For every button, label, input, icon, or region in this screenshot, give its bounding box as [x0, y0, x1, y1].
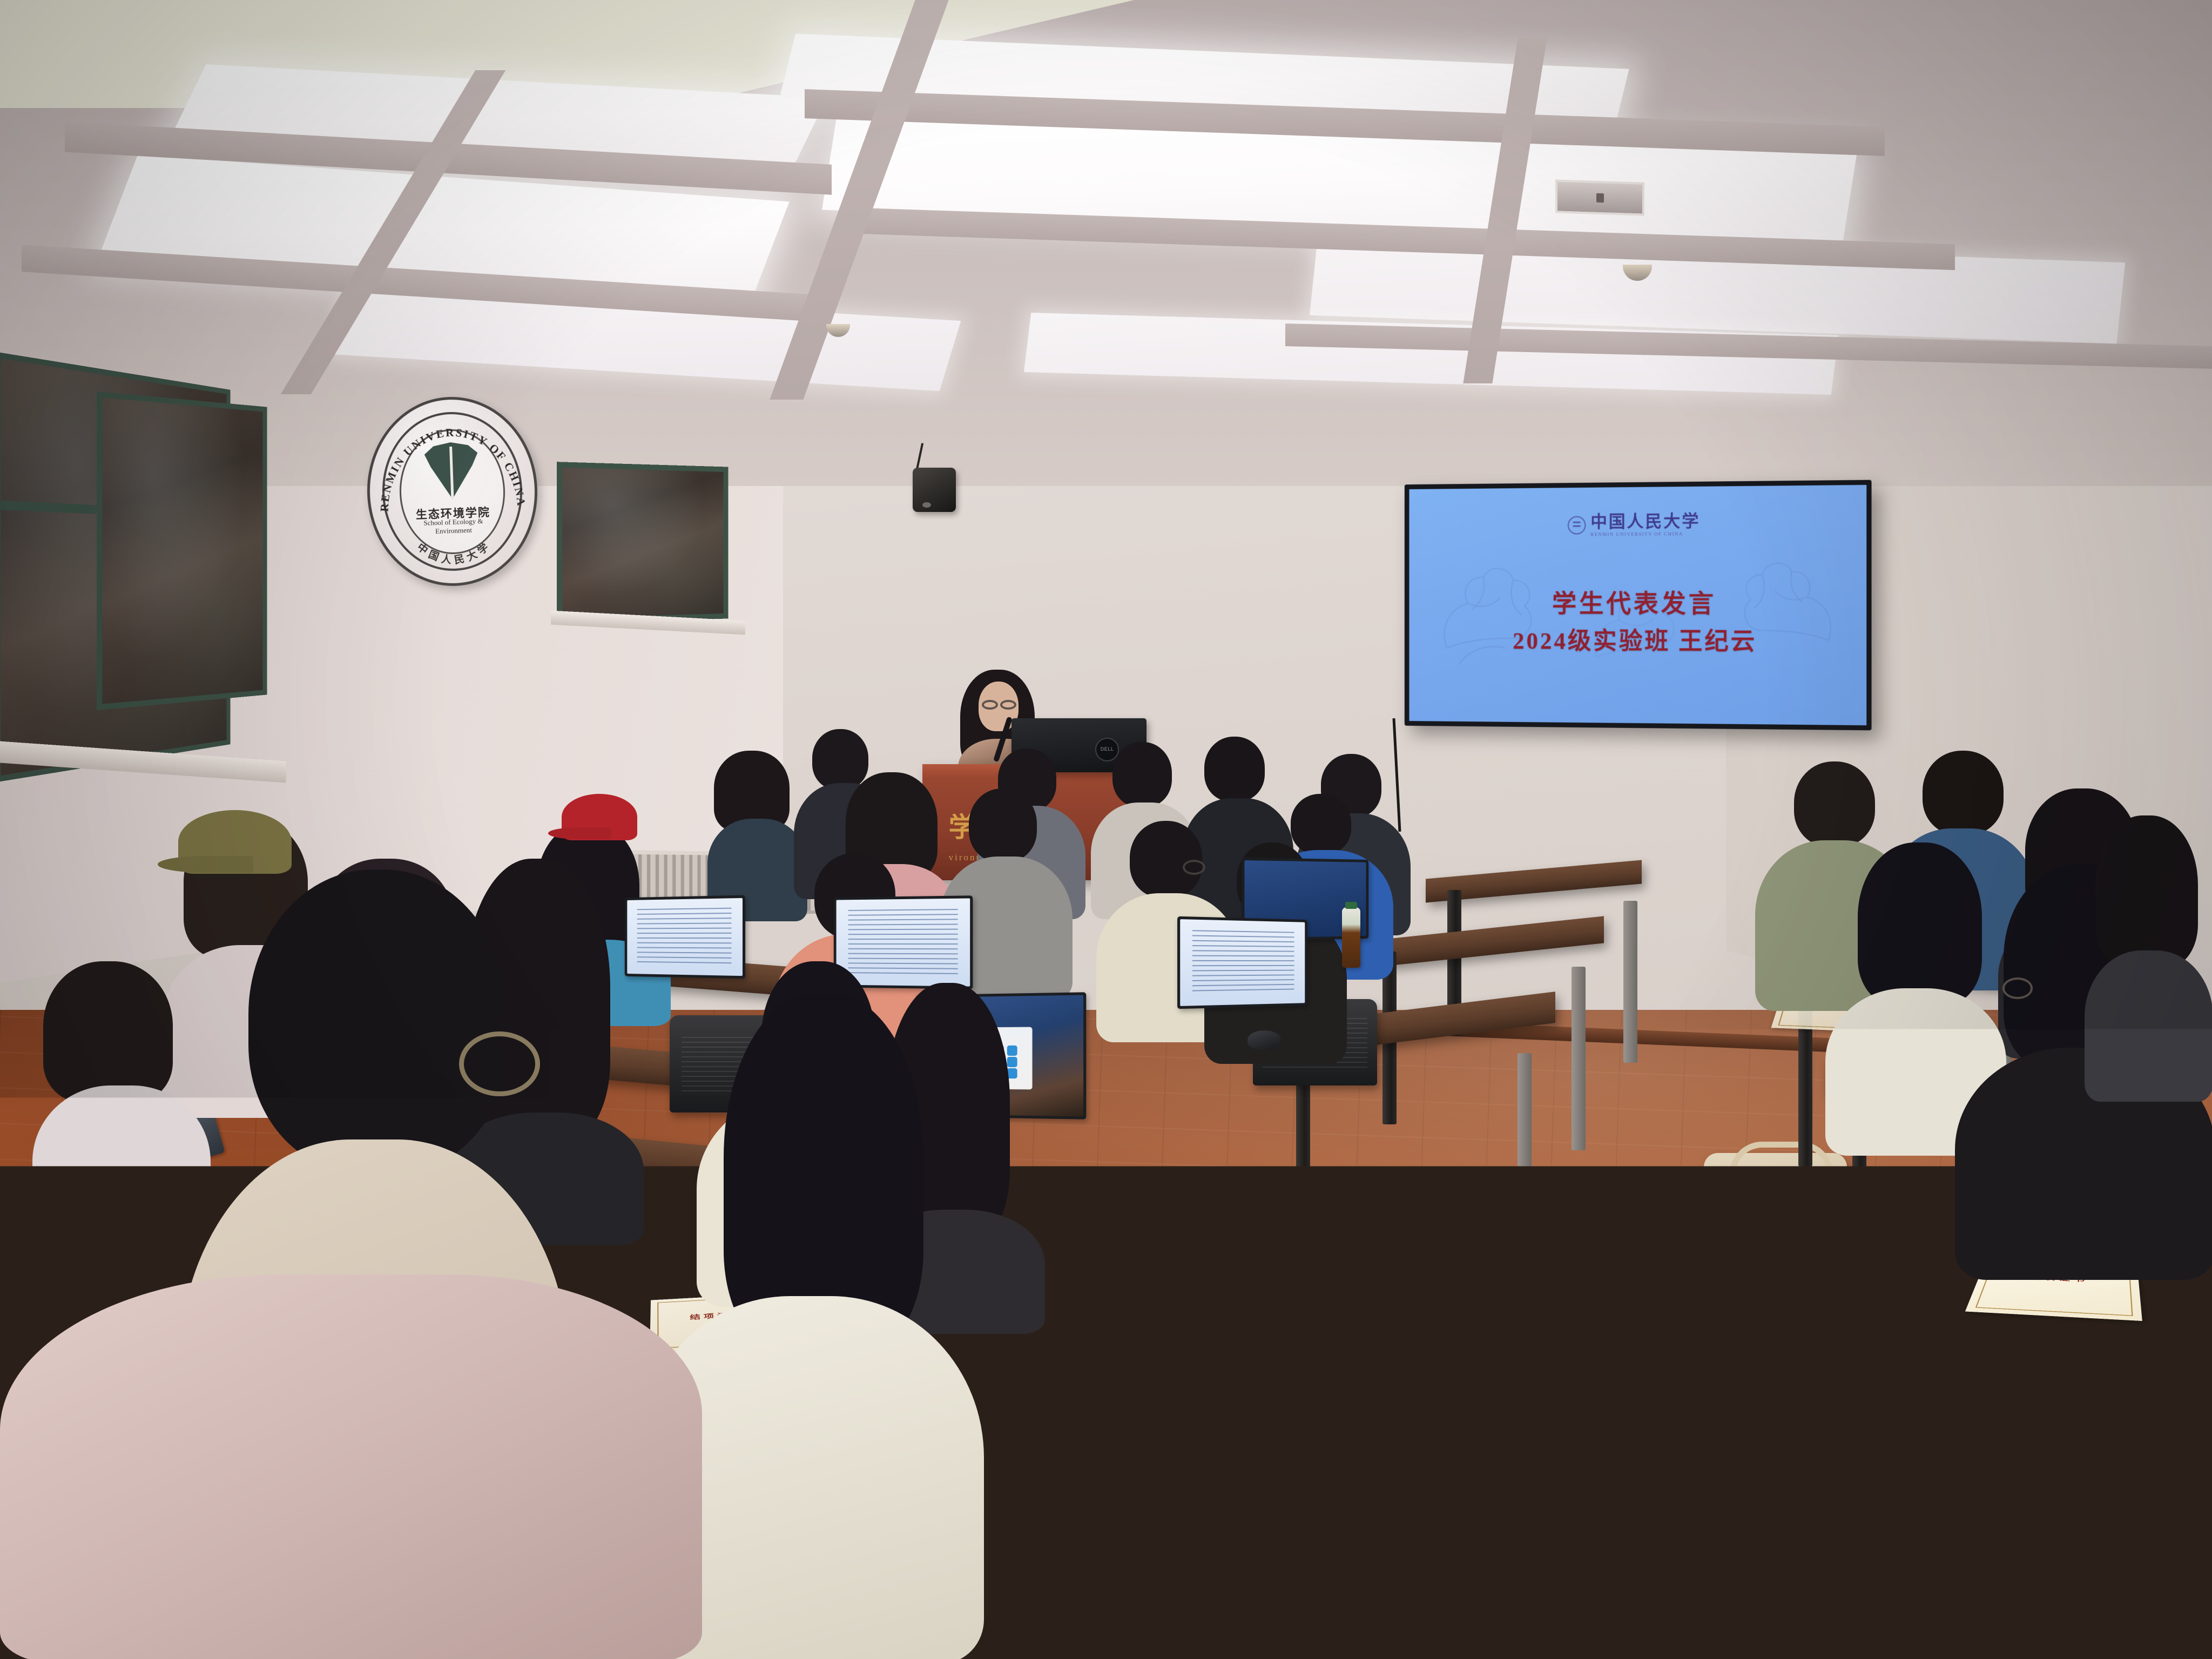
person-body [0, 1274, 702, 1659]
person-body [1998, 1161, 2212, 1659]
window-glass [562, 468, 723, 618]
person-head [1130, 821, 1202, 898]
ruc-seal-icon [1568, 516, 1586, 535]
desk-leg [1183, 1215, 1201, 1447]
person-head [1794, 761, 1875, 847]
slide-title-line1: 学生代表发言 [1409, 583, 1866, 619]
presenter-glasses-icon [982, 700, 998, 710]
person-head [969, 788, 1037, 862]
person-hair [2095, 815, 2198, 967]
person-head [248, 869, 508, 1172]
slide-logo-en: RENMIN UNIVERSITY OF CHINA [1590, 531, 1700, 537]
desk-leg [1572, 967, 1586, 1150]
mouse[interactable] [1247, 1030, 1281, 1050]
window-left-near [97, 392, 267, 710]
emblem-arc-bottom-text: 中国人民大学 [414, 538, 494, 568]
person-glasses-icon [459, 1031, 540, 1096]
air-vent-icon [1555, 179, 1644, 215]
slide-title-line2: 2024级实验班 王纪云 [1409, 622, 1866, 657]
desk-leg [1112, 1382, 1134, 1653]
olive-cap-icon [178, 810, 292, 874]
renmin-university-emblem: RENMIN UNIVERSITY OF CHINA 中国人民大学 生态环境学院… [364, 394, 541, 589]
classroom-photo-scene: RENMIN UNIVERSITY OF CHINA 中国人民大学 生态环境学院… [0, 0, 2212, 1659]
desk-leg [1623, 901, 1637, 1063]
red-cap-icon [562, 794, 637, 840]
audience-member-foreground [1998, 1161, 2212, 1659]
slide-university-logo: 中国人民大学 RENMIN UNIVERSITY OF CHINA [1568, 512, 1700, 537]
person-head [1923, 751, 2004, 835]
ceiling [0, 0, 2212, 486]
desk-leg [1518, 1053, 1532, 1258]
laptop-lid [1177, 916, 1307, 1009]
backpack [1704, 1153, 1847, 1318]
window-right [557, 462, 729, 624]
audience-member [2085, 815, 2212, 1096]
desk-leg [1852, 1123, 1866, 1339]
person-hair [43, 961, 173, 1102]
person-glasses-icon [1183, 860, 1205, 875]
slide-logo-cn: 中国人民大学 [1590, 511, 1700, 531]
person-body [2085, 950, 2212, 1102]
wall-speaker-icon [913, 468, 956, 512]
wall-display[interactable]: 中国人民大学 RENMIN UNIVERSITY OF CHINA 学生代表发言… [1405, 480, 1872, 731]
laptop[interactable] [1177, 916, 1307, 1009]
laptop-screen [1180, 919, 1305, 1006]
person-glasses-icon [2002, 977, 2033, 999]
presentation-slide: 中国人民大学 RENMIN UNIVERSITY OF CHINA 学生代表发言… [1409, 485, 1866, 725]
window-glass [102, 397, 262, 704]
audience-member-foreground [0, 1242, 702, 1659]
person-head [1112, 742, 1172, 807]
svg-text:中国人民大学: 中国人民大学 [414, 538, 494, 568]
person-head [1204, 737, 1265, 801]
presenter-glasses-icon [1000, 700, 1016, 710]
desk-leg [1950, 1296, 1964, 1550]
tea-bottle [1342, 907, 1360, 968]
